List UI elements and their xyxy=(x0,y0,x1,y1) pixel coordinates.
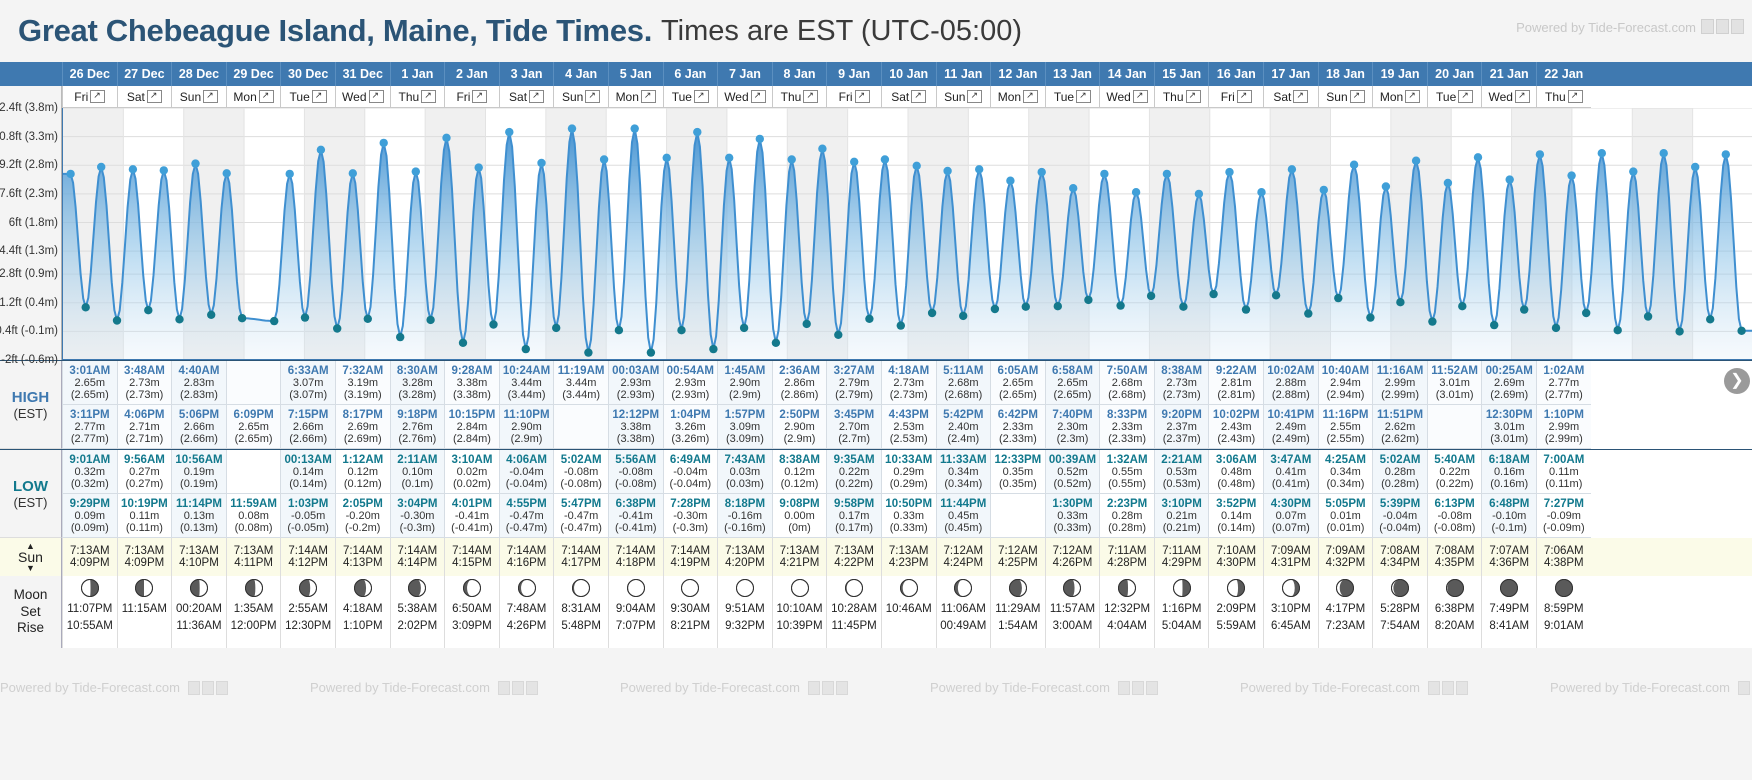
high-tide-height-alt: (2.79m) xyxy=(835,389,873,401)
low-tide-cell: 7:27PM-0.09m(-0.09m) xyxy=(1536,494,1591,538)
date-header-cell[interactable]: 27 Dec xyxy=(117,62,172,86)
date-header-cell[interactable]: 2 Jan xyxy=(444,62,499,86)
moon-rise-time: 7:23AM xyxy=(1326,618,1366,635)
expand-icon[interactable] xyxy=(529,90,544,103)
low-tide-point xyxy=(991,305,999,313)
high-tide-cell: 8:17PM2.69m(2.69m) xyxy=(335,405,390,449)
expand-icon[interactable] xyxy=(312,90,327,103)
moon-phase-icon xyxy=(844,578,864,598)
sunset-time: 4:29PM xyxy=(1162,557,1202,569)
low-tide-height: 0.48m xyxy=(1221,466,1252,478)
date-header-cell[interactable]: 3 Jan xyxy=(499,62,554,86)
high-tide-point xyxy=(850,158,858,166)
high-tide-cell: 6:05AM2.65m(2.65m) xyxy=(990,361,1045,405)
expand-icon[interactable] xyxy=(147,90,162,103)
low-tide-time: 1:30PM xyxy=(1052,498,1092,510)
low-tide-cell: 9:29PM0.09m(0.09m) xyxy=(62,494,117,538)
low-tide-height: 0.14m xyxy=(293,466,324,478)
low-tide-height: 0.32m xyxy=(75,466,106,478)
high-tide-height: 3.01m xyxy=(1439,377,1470,389)
weekday-label: Tue xyxy=(1436,90,1456,104)
high-tide-point xyxy=(1225,168,1233,176)
low-tide-height-alt: (0.16m) xyxy=(1490,478,1528,490)
weekday-label: Mon xyxy=(998,90,1021,104)
date-header-cell[interactable]: 17 Jan xyxy=(1263,62,1318,86)
low-tide-height-alt: (0.27m) xyxy=(125,478,163,490)
low-tide-cell: 6:18AM0.16m(0.16m) xyxy=(1481,450,1536,494)
low-tide-point xyxy=(834,331,842,339)
low-tide-cell: 2:21AM0.53m(0.53m) xyxy=(1154,450,1209,494)
low-tide-cell: 9:01AM0.32m(0.32m) xyxy=(62,450,117,494)
y-axis-tick-label: -0.4ft (-0.1m) xyxy=(0,325,58,337)
low-tide-height: -0.20m xyxy=(346,510,380,522)
high-tide-time: 9:28AM xyxy=(452,365,493,377)
sunset-time: 4:38PM xyxy=(1544,557,1584,569)
date-header-cell[interactable]: 29 Dec xyxy=(226,62,281,86)
weekday-header-cell: Sun xyxy=(1318,86,1373,108)
expand-icon[interactable] xyxy=(259,90,274,103)
date-header-cell[interactable]: 6 Jan xyxy=(663,62,718,86)
footer-credit-badges xyxy=(1118,681,1158,695)
high-tide-time: 00:25AM xyxy=(1486,365,1533,377)
expand-icon[interactable] xyxy=(641,90,656,103)
high-tide-cell: 00:54AM2.93m(2.93m) xyxy=(663,361,718,405)
high-tide-point xyxy=(693,128,701,136)
moon-rise-time: 9:01AM xyxy=(1544,618,1584,635)
date-header-cell[interactable]: 8 Jan xyxy=(772,62,827,86)
low-tide-cell: 1:32AM0.55m(0.55m) xyxy=(1099,450,1154,494)
weekday-label: Sun xyxy=(1326,90,1347,104)
footer-credit: Powered by Tide-Forecast.com xyxy=(0,680,228,695)
high-tide-point xyxy=(568,124,576,132)
low-tide-point xyxy=(1304,309,1312,317)
high-tide-height-alt: (3.38m) xyxy=(453,389,491,401)
sun-cell: 7:13AM4:09PM xyxy=(62,538,117,576)
sun-row: ▲ Sun ▼ 7:13AM4:09PM7:13AM4:09PM7:13AM4:… xyxy=(0,538,1752,576)
sun-cell: 7:13AM4:23PM xyxy=(881,538,936,576)
expand-icon[interactable] xyxy=(911,90,926,103)
y-axis-tick-label: 4.4ft (1.3m) xyxy=(0,245,58,257)
sunset-time: 4:09PM xyxy=(125,557,165,569)
low-tide-height-alt: (0.02m) xyxy=(453,478,491,490)
low-tide-height: 0.12m xyxy=(347,466,378,478)
expand-icon[interactable] xyxy=(803,90,818,103)
low-tide-cell xyxy=(990,494,1045,538)
high-tide-time: 00:54AM xyxy=(667,365,714,377)
date-header-cell[interactable]: 18 Jan xyxy=(1318,62,1373,86)
sunrise-time: 7:09AM xyxy=(1326,545,1366,557)
high-tide-height: 2.40m xyxy=(948,421,979,433)
high-tide-height: 2.93m xyxy=(675,377,706,389)
low-tide-cell: 4:55PM-0.47m(-0.47m) xyxy=(499,494,554,538)
moon-rise-time: 6:45AM xyxy=(1271,618,1311,635)
high-tide-time: 1:57PM xyxy=(725,409,765,421)
weekday-header-cell: Sat xyxy=(117,86,172,108)
high-tide-cell: 10:40AM2.94m(2.94m) xyxy=(1318,361,1373,405)
moon-phase-icon xyxy=(899,578,919,598)
date-header-cell[interactable]: 1 Jan xyxy=(390,62,445,86)
moon-set-time: 1:35AM xyxy=(234,601,274,618)
low-tide-time: 4:25AM xyxy=(1325,454,1366,466)
high-tide-point xyxy=(1598,149,1606,157)
sunrise-time: 7:11AM xyxy=(1162,545,1201,557)
date-header-cell[interactable]: 7 Jan xyxy=(717,62,772,86)
low-tide-point xyxy=(1366,313,1374,321)
header-credit-badges xyxy=(1701,19,1744,34)
high-tide-time: 9:22AM xyxy=(1216,365,1257,377)
expand-icon[interactable] xyxy=(855,90,870,103)
moon-cell: 11:57AM3:00AM xyxy=(1045,576,1100,648)
high-tide-point xyxy=(66,170,74,178)
expand-icon[interactable] xyxy=(421,90,436,103)
low-tide-point xyxy=(333,324,341,332)
high-tide-height-alt: (2.65m) xyxy=(1054,389,1092,401)
low-tide-height-alt: (0.52m) xyxy=(1054,478,1092,490)
expand-icon[interactable] xyxy=(694,90,709,103)
date-header-cell[interactable]: 28 Dec xyxy=(171,62,226,86)
high-tide-time: 2:36AM xyxy=(779,365,820,377)
moon-cell: 11:15AM xyxy=(117,576,172,648)
footer-credit-text: Powered by Tide-Forecast.com xyxy=(930,680,1110,695)
high-tide-height-alt: (2.84m) xyxy=(453,433,491,445)
low-tide-time: 5:02AM xyxy=(561,454,602,466)
high-tide-height: 2.94m xyxy=(1330,377,1361,389)
moon-cell: 12:32PM4:04AM xyxy=(1099,576,1154,648)
expand-icon[interactable] xyxy=(1186,90,1201,103)
high-tide-time: 1:10PM xyxy=(1544,409,1584,421)
low-tide-height: 0.22m xyxy=(1439,466,1470,478)
date-header-cell[interactable]: 26 Dec xyxy=(62,62,117,86)
high-tide-point xyxy=(1567,171,1575,179)
low-tide-point xyxy=(1644,312,1652,320)
low-tide-height-alt: (0.19m) xyxy=(180,478,218,490)
low-tide-point xyxy=(175,315,183,323)
high-tide-cell: 1:10PM2.99m(2.99m) xyxy=(1536,405,1591,449)
high-tide-height: 2.65m xyxy=(75,377,106,389)
sunset-arrow-icon: ▼ xyxy=(26,564,35,572)
low-tide-time: 2:21AM xyxy=(1161,454,1202,466)
date-header-cell[interactable]: 11 Jan xyxy=(936,62,991,86)
low-tide-cell: 3:10PM0.21m(0.21m) xyxy=(1154,494,1209,538)
date-header-cell[interactable]: 31 Dec xyxy=(335,62,390,86)
high-tide-time: 12:12PM xyxy=(612,409,659,421)
low-tide-height: 0.35m xyxy=(1003,466,1034,478)
expand-icon[interactable] xyxy=(1076,90,1091,103)
high-tide-point xyxy=(725,154,733,162)
low-tide-height-alt: (0.29m) xyxy=(890,478,928,490)
moon-rise-time: 3:00AM xyxy=(1053,618,1093,635)
high-tide-height: 2.69m xyxy=(347,421,378,433)
sunset-time: 4:16PM xyxy=(507,557,547,569)
high-tide-time: 4:40AM xyxy=(179,365,220,377)
high-tide-height: 2.70m xyxy=(839,421,870,433)
low-tide-height: 0.14m xyxy=(1221,510,1252,522)
header-credit: Powered by Tide-Forecast.com xyxy=(1516,20,1696,35)
footer-credit-badges xyxy=(808,681,848,695)
moon-set-time: 1:16PM xyxy=(1162,601,1202,618)
high-tide-point xyxy=(1132,188,1140,196)
sunrise-time: 7:14AM xyxy=(452,545,492,557)
low-tide-point xyxy=(1428,317,1436,325)
low-tide-time: 3:10AM xyxy=(452,454,493,466)
low-tide-height-alt: (-0.3m) xyxy=(400,522,435,534)
low-tide-height-alt: (-0.16m) xyxy=(724,522,766,534)
high-tide-cell: 3:45PM2.70m(2.7m) xyxy=(826,405,881,449)
low-tide-height-alt: (0.33m) xyxy=(890,522,928,534)
low-tide-height: -0.04m xyxy=(1383,510,1417,522)
low-tide-cell: 8:38AM0.12m(0.12m) xyxy=(772,450,827,494)
moon-phase-icon xyxy=(1117,578,1137,598)
low-tide-height-alt: (0.22m) xyxy=(835,478,873,490)
low-tide-time: 5:02AM xyxy=(1380,454,1421,466)
high-tide-time: 8:30AM xyxy=(397,365,438,377)
moon-row: Moon Set Rise 11:07PM10:55AM11:15AM00:20… xyxy=(0,576,1752,648)
high-tide-time: 6:05AM xyxy=(997,365,1038,377)
date-header-cell[interactable]: 13 Jan xyxy=(1045,62,1100,86)
moon-phase-icon xyxy=(1554,578,1574,598)
low-tide-height: 0.17m xyxy=(839,510,870,522)
low-tide-time: 5:05PM xyxy=(1325,498,1365,510)
low-tide-time: 2:23PM xyxy=(1107,498,1147,510)
high-tide-point xyxy=(412,167,420,175)
weekday-label: Thu xyxy=(1545,90,1566,104)
low-tide-height-alt: (-0.05m) xyxy=(287,522,329,534)
high-tide-height-alt: (2.62m) xyxy=(1381,433,1419,445)
date-header-cell[interactable]: 15 Jan xyxy=(1154,62,1209,86)
sunrise-time: 7:12AM xyxy=(1053,545,1093,557)
low-tide-cell: 1:30PM0.33m(0.33m) xyxy=(1045,494,1100,538)
high-tide-time: 8:33PM xyxy=(1107,409,1147,421)
high-tide-time: 6:33AM xyxy=(288,365,329,377)
low-tide-height: 0.22m xyxy=(839,466,870,478)
weekday-header-cell: Sun xyxy=(936,86,991,108)
moon-rise-time: 9:32PM xyxy=(725,618,765,635)
date-header-cell[interactable]: 12 Jan xyxy=(990,62,1045,86)
low-tide-time: 12:33PM xyxy=(995,454,1042,466)
high-tide-cell: 10:15PM2.84m(2.84m) xyxy=(444,405,499,449)
high-tide-point xyxy=(1038,168,1046,176)
date-header-cell[interactable]: 16 Jan xyxy=(1208,62,1263,86)
low-tide-height-alt: (-0.04m) xyxy=(670,478,712,490)
low-tide-point xyxy=(1737,327,1745,335)
high-tide-time: 4:43PM xyxy=(889,409,929,421)
low-tide-point xyxy=(207,311,215,319)
high-tide-height-alt: (3.44m) xyxy=(508,389,546,401)
high-tide-cell: 11:16PM2.55m(2.55m) xyxy=(1318,405,1373,449)
low-tide-time: 00:39AM xyxy=(1049,454,1096,466)
low-tide-height-alt: (0m) xyxy=(788,522,811,534)
low-tide-cell: 3:06AM0.48m(0.48m) xyxy=(1208,450,1263,494)
date-header-cell[interactable]: 5 Jan xyxy=(608,62,663,86)
moon-phase-icon xyxy=(790,578,810,598)
high-tide-point xyxy=(1506,175,1514,183)
low-tide-time: 6:48PM xyxy=(1489,498,1529,510)
low-tide-height-alt: (0.48m) xyxy=(1217,478,1255,490)
low-tide-point xyxy=(1084,296,1092,304)
weekday-header-cell: Sun xyxy=(171,86,226,108)
moon-set-time: 6:38PM xyxy=(1435,601,1475,618)
date-header-cell[interactable]: 19 Jan xyxy=(1372,62,1427,86)
moon-rise-time: 8:20AM xyxy=(1435,618,1475,635)
tide-chart-row: 12.4ft (3.8m)10.8ft (3.3m)9.2ft (2.8m)7.… xyxy=(0,108,1752,360)
expand-icon[interactable] xyxy=(472,90,487,103)
moon-phase-icon xyxy=(517,578,537,598)
expand-icon[interactable] xyxy=(203,90,218,103)
high-tide-time: 11:52AM xyxy=(1431,365,1478,377)
low-tide-height: -0.04m xyxy=(673,466,707,478)
date-header-cell[interactable]: 9 Jan xyxy=(826,62,881,86)
badge-icon xyxy=(1132,681,1144,695)
low-tide-height: 0.16m xyxy=(1494,466,1525,478)
low-tide-cell: 10:33AM0.29m(0.29m) xyxy=(881,450,936,494)
sun-cell: 7:14AM4:15PM xyxy=(444,538,499,576)
high-tide-height-alt: (2.88m) xyxy=(1272,389,1310,401)
moon-cell: 3:10PM6:45AM xyxy=(1263,576,1318,648)
moon-rise-time: 12:00PM xyxy=(231,618,277,635)
low-tide-height-alt: (0.32m) xyxy=(71,478,109,490)
high-tide-height-alt: (2.73m) xyxy=(125,389,163,401)
weekday-label: Sun xyxy=(944,90,965,104)
sunset-time: 4:19PM xyxy=(671,557,711,569)
expand-icon[interactable] xyxy=(1568,90,1583,103)
date-header-cell[interactable]: 4 Jan xyxy=(553,62,608,86)
sun-cell: 7:13AM4:20PM xyxy=(717,538,772,576)
low-tide-cell: 4:25AM0.34m(0.34m) xyxy=(1318,450,1373,494)
low-tide-point xyxy=(1675,327,1683,335)
low-tide-point xyxy=(772,339,780,347)
high-tide-point xyxy=(160,166,168,174)
high-tide-height-alt: (2.9m) xyxy=(511,433,543,445)
moon-set-time: 2:55AM xyxy=(288,601,328,618)
moon-cell: 6:50AM3:09PM xyxy=(444,576,499,648)
moon-set-time: 4:18AM xyxy=(343,601,383,618)
moon-set-time: 6:50AM xyxy=(452,601,492,618)
low-tide-height: 0.01m xyxy=(1330,510,1361,522)
low-tide-point xyxy=(1209,290,1217,298)
high-tide-height: 2.66m xyxy=(293,421,324,433)
high-tide-time: 7:50AM xyxy=(1107,365,1148,377)
high-tide-cell: 11:10PM2.90m(2.9m) xyxy=(499,405,554,449)
low-tide-point xyxy=(1706,315,1714,323)
high-tide-height-alt: (2.99m) xyxy=(1545,433,1583,445)
expand-icon[interactable] xyxy=(1133,90,1148,103)
sunset-time: 4:32PM xyxy=(1326,557,1366,569)
expand-icon[interactable] xyxy=(1293,90,1308,103)
moon-cell: 8:31AM5:48PM xyxy=(553,576,608,648)
moon-cell: 11:07PM10:55AM xyxy=(62,576,117,648)
low-tide-cell: 7:43AM0.03m(0.03m) xyxy=(717,450,772,494)
high-tide-cell: 7:15PM2.66m(2.66m) xyxy=(280,405,335,449)
date-header-cell[interactable]: 10 Jan xyxy=(881,62,936,86)
low-tide-cell: 2:11AM0.10m(0.1m) xyxy=(390,450,445,494)
moon-set-time: 9:51AM xyxy=(725,601,765,618)
low-tide-cell: 11:14PM0.13m(0.13m) xyxy=(171,494,226,538)
high-tide-height-alt: (2.81m) xyxy=(1217,389,1255,401)
weekday-label: Wed xyxy=(1489,90,1513,104)
date-header-cell[interactable]: 21 Jan xyxy=(1481,62,1536,86)
low-tide-height: 0.27m xyxy=(129,466,160,478)
expand-icon[interactable] xyxy=(1350,90,1365,103)
y-axis-tick-label: -2ft (-0.6m) xyxy=(1,354,58,366)
date-header-cell[interactable]: 20 Jan xyxy=(1427,62,1482,86)
low-tide-time: 6:13PM xyxy=(1435,498,1475,510)
high-tide-height: 2.65m xyxy=(1057,377,1088,389)
sun-cell: 7:13AM4:09PM xyxy=(117,538,172,576)
low-tide-height-alt: (0.28m) xyxy=(1108,522,1146,534)
expand-icon[interactable] xyxy=(90,90,105,103)
moon-rise-time: 8:21PM xyxy=(671,618,711,635)
low-tide-height-alt: (0.33m) xyxy=(1054,522,1092,534)
low-tide-height: 0.34m xyxy=(948,466,979,478)
low-tide-height: 0.07m xyxy=(1276,510,1307,522)
high-tide-height-alt: (3.38m) xyxy=(617,433,655,445)
moon-rise-time: 7:54AM xyxy=(1380,618,1420,635)
high-tide-height-alt: (2.4m) xyxy=(947,433,979,445)
moon-rise-time: 5:59AM xyxy=(1216,618,1256,635)
date-header-cell[interactable]: 14 Jan xyxy=(1099,62,1154,86)
high-tide-cell: 3:01AM2.65m(2.65m) xyxy=(62,361,117,405)
low-tide-cell: 4:30PM0.07m(0.07m) xyxy=(1263,494,1318,538)
weekday-label: Wed xyxy=(342,90,366,104)
moon-phase-icon xyxy=(735,578,755,598)
high-tide-height: 3.09m xyxy=(730,421,761,433)
sun-cell: 7:11AM4:29PM xyxy=(1154,538,1209,576)
high-tide-time: 8:38AM xyxy=(1161,365,1202,377)
scroll-right-button[interactable]: ❯ xyxy=(1724,368,1750,394)
expand-icon[interactable] xyxy=(967,90,982,103)
high-tide-height-alt: (2.66m) xyxy=(289,433,327,445)
y-axis-tick-label: 2.8ft (0.9m) xyxy=(0,268,58,280)
expand-icon[interactable] xyxy=(369,90,384,103)
moon-phase-icon xyxy=(298,578,318,598)
expand-icon[interactable] xyxy=(1237,90,1252,103)
date-header-cell[interactable]: 30 Dec xyxy=(280,62,335,86)
sunset-time: 4:25PM xyxy=(998,557,1038,569)
expand-icon[interactable] xyxy=(1515,90,1530,103)
expand-icon[interactable] xyxy=(1458,90,1473,103)
moon-phase-icon xyxy=(1499,578,1519,598)
weekday-header-cell: Fri xyxy=(62,86,117,108)
low-tide-height-alt: (-0.08m) xyxy=(560,478,602,490)
low-tide-cell: 7:28PM-0.30m(-0.3m) xyxy=(663,494,718,538)
weekday-label: Tue xyxy=(672,90,692,104)
moon-set-time: 8:31AM xyxy=(561,601,601,618)
high-tide-label-text: HIGH xyxy=(12,389,50,406)
moon-phase-icon xyxy=(1390,578,1410,598)
sunrise-time: 7:14AM xyxy=(288,545,328,557)
low-tide-point xyxy=(1242,305,1250,313)
low-tide-height-alt: (-0.08m) xyxy=(1434,522,1476,534)
low-tide-cell: 5:40AM0.22m(0.22m) xyxy=(1427,450,1482,494)
low-tide-height-alt: (-0.47m) xyxy=(506,522,548,534)
date-header-cell[interactable]: 22 Jan xyxy=(1536,62,1591,86)
low-tide-height: -0.04m xyxy=(509,466,543,478)
expand-icon[interactable] xyxy=(1023,90,1038,103)
moon-rise-time: 00:49AM xyxy=(940,618,986,635)
high-tide-height: 3.38m xyxy=(457,377,488,389)
expand-icon[interactable] xyxy=(1405,90,1420,103)
moon-set-time: 9:30AM xyxy=(671,601,711,618)
low-tide-cell: 3:47AM0.41m(0.41m) xyxy=(1263,450,1318,494)
high-tide-height-alt: (2.69m) xyxy=(1490,389,1528,401)
high-tide-time: 3:27AM xyxy=(834,365,875,377)
expand-icon[interactable] xyxy=(751,90,766,103)
expand-icon[interactable] xyxy=(585,90,600,103)
badge-icon xyxy=(1118,681,1130,695)
high-tide-height: 2.30m xyxy=(1057,421,1088,433)
low-tide-height-alt: (-0.04m) xyxy=(506,478,548,490)
high-tide-point xyxy=(663,154,671,162)
